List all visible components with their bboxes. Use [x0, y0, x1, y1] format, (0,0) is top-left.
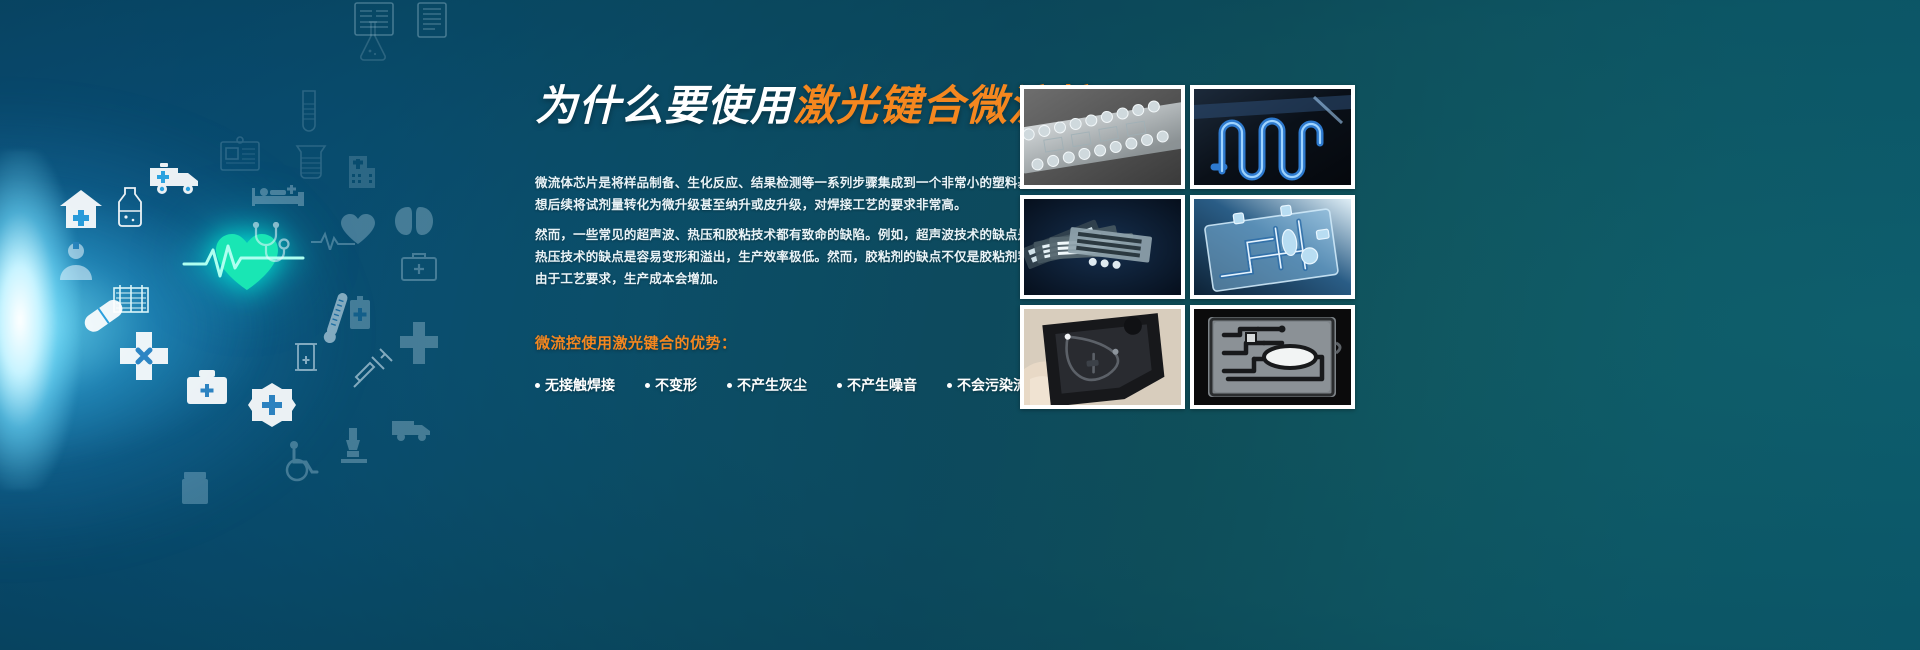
list-item: 无接触焊接 — [535, 375, 615, 395]
hospital-building-icon — [345, 148, 379, 190]
document-icon — [352, 0, 396, 38]
stethoscope-icon — [248, 222, 290, 272]
pill-bottle-icon — [180, 470, 210, 506]
gallery-photo-4[interactable] — [1190, 195, 1355, 299]
reagent-bottle-icon — [114, 185, 146, 229]
title-lead: 为什么要使用 — [535, 82, 793, 129]
hospital-bed-icon — [250, 182, 306, 212]
cross-icon — [398, 320, 440, 366]
advantage-label: 不变形 — [655, 375, 697, 395]
serpentine-channel-blue-glow-image — [1194, 89, 1351, 185]
bullet-dot-icon — [727, 383, 732, 388]
advantage-label: 不产生灰尘 — [737, 375, 807, 395]
first-aid-kit-icon — [185, 368, 229, 406]
list-item: 不产生噪音 — [837, 375, 917, 395]
ambulance-outline-icon — [390, 415, 434, 443]
product-photo-gallery — [1020, 85, 1340, 310]
advantages-heading: 微流控使用激光键合的优势： — [535, 332, 737, 353]
advantage-label: 无接触焊接 — [545, 375, 615, 395]
bullet-dot-icon — [947, 383, 952, 388]
gallery-photo-6[interactable] — [1190, 305, 1355, 409]
bullet-dot-icon — [645, 383, 650, 388]
syringe-icon — [352, 345, 396, 389]
ambulance-icon — [148, 160, 202, 196]
thermometer-icon — [322, 290, 350, 346]
fanned-microfluidic-slides-image — [1024, 199, 1181, 295]
cross-badge-icon — [248, 382, 296, 428]
beaker-icon — [293, 142, 329, 182]
gallery-photo-1[interactable] — [1020, 85, 1185, 189]
test-tube-icon — [298, 88, 320, 136]
bandage-cross-icon — [118, 330, 170, 382]
bullet-dot-icon — [535, 383, 540, 388]
advantage-label: 不产生噪音 — [847, 375, 917, 395]
id-card-icon — [218, 135, 262, 175]
gallery-photo-5[interactable] — [1020, 305, 1185, 409]
iv-stand-icon — [292, 340, 320, 390]
wheelchair-icon — [280, 440, 320, 482]
black-chip-with-chamber-image — [1194, 309, 1351, 405]
heart-ecg-icon — [182, 222, 312, 299]
handheld-black-cartridge-image — [1024, 309, 1181, 405]
microscope-icon — [335, 425, 373, 467]
list-item: 不产生灰尘 — [727, 375, 807, 395]
battery-icon — [348, 295, 372, 331]
document-lines-icon — [415, 0, 449, 40]
promo-banner: 为什么要使用激光键合微流控？ 微流体芯片是将样品制备、生化反应、结果检测等一系列… — [0, 0, 1920, 650]
clear-plastic-manifold-image — [1194, 199, 1351, 295]
list-item: 不变形 — [645, 375, 697, 395]
doctor-icon — [58, 240, 94, 282]
microfluidic-chip-with-wells-image — [1024, 89, 1181, 185]
bullet-dot-icon — [837, 383, 842, 388]
kidney-icon — [392, 205, 436, 239]
gallery-photo-3[interactable] — [1020, 195, 1185, 299]
medical-bag-icon — [400, 250, 438, 282]
pill-icon — [80, 295, 126, 335]
heart-outline-icon — [338, 212, 378, 246]
gallery-photo-2[interactable] — [1190, 85, 1355, 189]
medical-house-icon — [58, 188, 104, 230]
